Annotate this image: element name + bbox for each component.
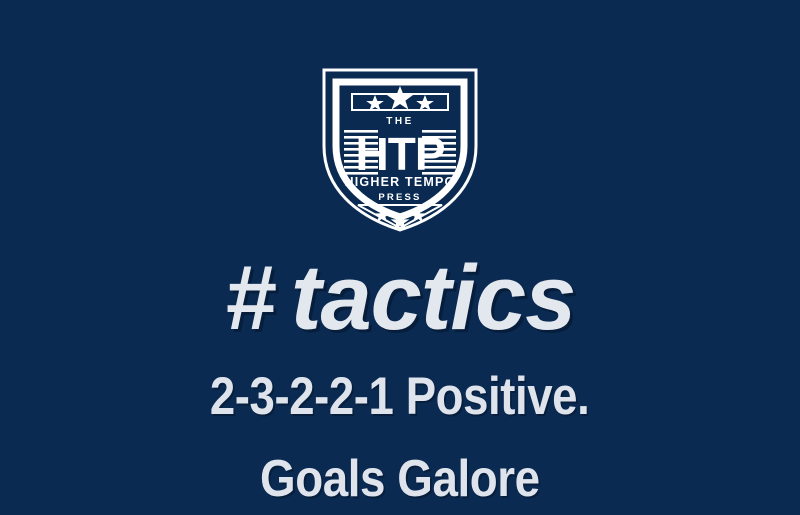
- subtitle-tagline: Goals Galore: [260, 453, 540, 505]
- subtitle-formation: 2-3-2-2-1 Positive.: [210, 370, 589, 423]
- logo-brand-text: HIGHER TEMPO: [345, 175, 456, 189]
- hash-symbol: #: [225, 252, 275, 344]
- promo-text-block: #tactics 2-3-2-2-1 Positive. Goals Galor…: [0, 236, 800, 505]
- logo-the-text: THE: [386, 116, 414, 127]
- headline: #tactics: [225, 252, 576, 344]
- headline-keyword: tactics: [291, 247, 576, 349]
- tactics-promo-card: THE: [0, 0, 800, 515]
- star-top-center-icon: [387, 86, 413, 110]
- star-top-left-icon: [366, 95, 384, 111]
- logo-monogram-text: HTP: [356, 128, 445, 180]
- star-top-right-icon: [416, 95, 434, 111]
- logo-press-text: PRESS: [378, 192, 421, 203]
- brand-logo: THE: [314, 58, 486, 236]
